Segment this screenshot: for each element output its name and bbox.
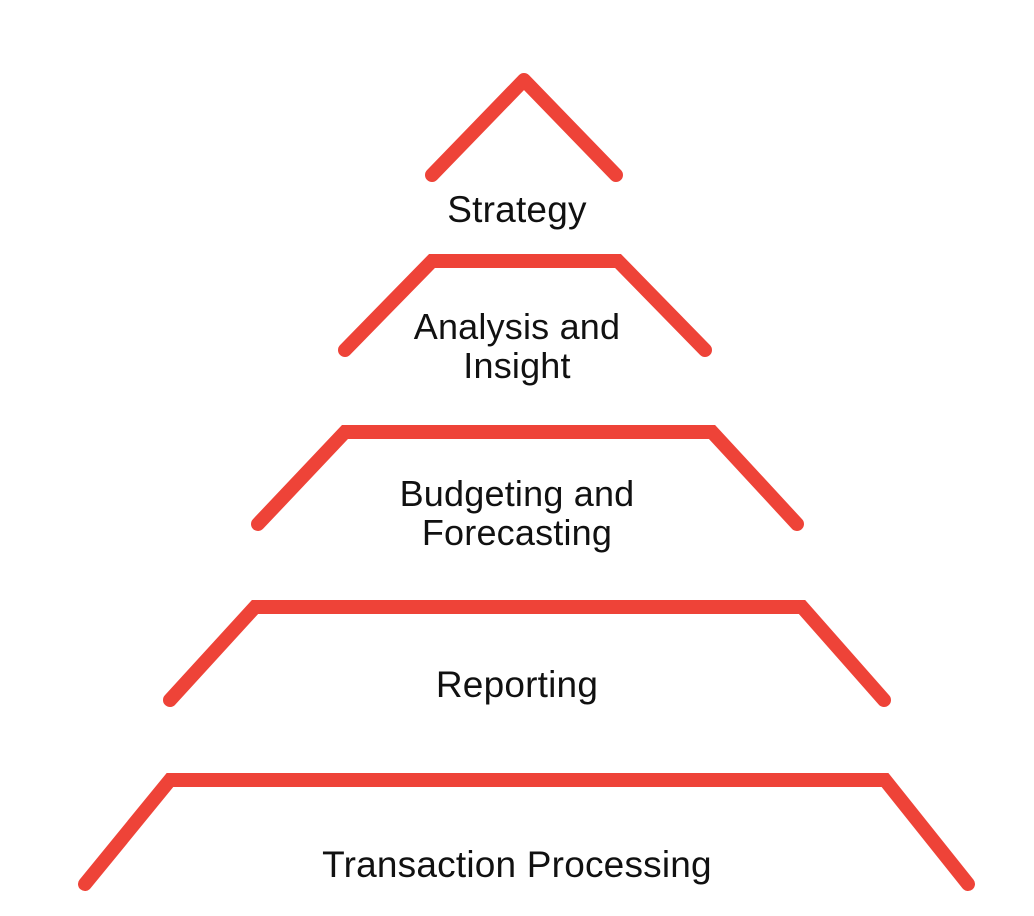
tier-2-trapezoid-shape	[345, 261, 705, 350]
pyramid-diagram: Strategy Analysis and Insight Budgeting …	[0, 0, 1034, 916]
tier-5-trapezoid-shape	[85, 780, 968, 884]
tier-4-trapezoid-shape	[170, 607, 884, 700]
tier-3-trapezoid-shape	[258, 432, 797, 524]
pyramid-shapes	[0, 0, 1034, 916]
tier-1-chevron-shape	[432, 80, 616, 175]
